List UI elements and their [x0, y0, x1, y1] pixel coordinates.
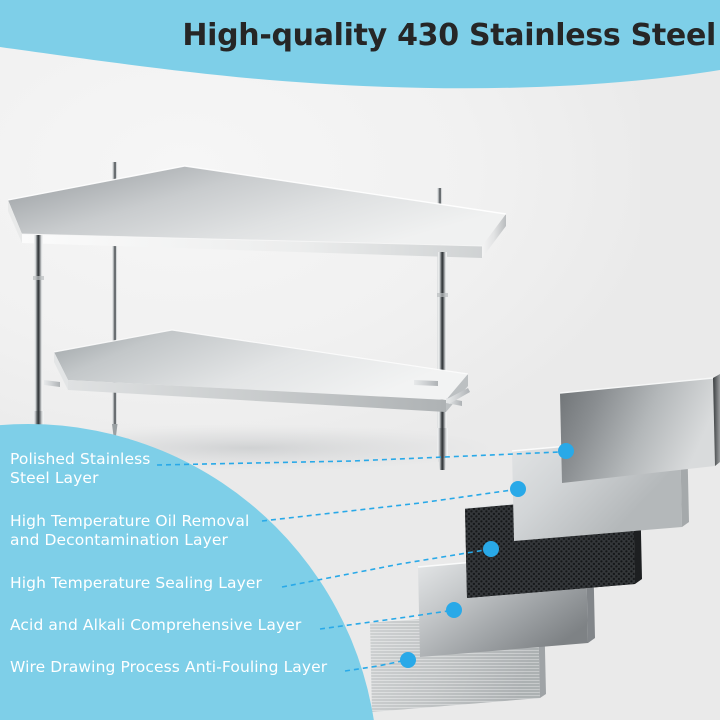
page-title: High-quality 430 Stainless Steel — [182, 18, 716, 53]
material-layer-panels — [350, 365, 720, 720]
layer-label-1-line-1: Polished Stainless — [10, 450, 150, 469]
layer-label-2-line-1: High Temperature Oil Removal — [10, 512, 249, 531]
layer-label-1: Polished Stainless Steel Layer — [10, 450, 150, 488]
layer-label-1-line-2: Steel Layer — [10, 469, 150, 488]
layer-label-2-line-2: and Decontamination Layer — [10, 531, 249, 550]
layer-label-5-line-1: Wire Drawing Process Anti-Fouling Layer — [10, 658, 327, 677]
product-infographic: Polished Stainless Steel Layer High Temp… — [0, 0, 720, 720]
layer-label-3-line-1: High Temperature Sealing Layer — [10, 574, 262, 593]
polished-stainless-steel-panel — [560, 374, 720, 483]
layer-label-4-line-1: Acid and Alkali Comprehensive Layer — [10, 616, 301, 635]
layer-label-5: Wire Drawing Process Anti-Fouling Layer — [10, 658, 327, 677]
layer-label-4: Acid and Alkali Comprehensive Layer — [10, 616, 301, 635]
layer-label-2: High Temperature Oil Removal and Deconta… — [10, 512, 249, 550]
table-top — [8, 166, 506, 258]
layer-label-3: High Temperature Sealing Layer — [10, 574, 262, 593]
